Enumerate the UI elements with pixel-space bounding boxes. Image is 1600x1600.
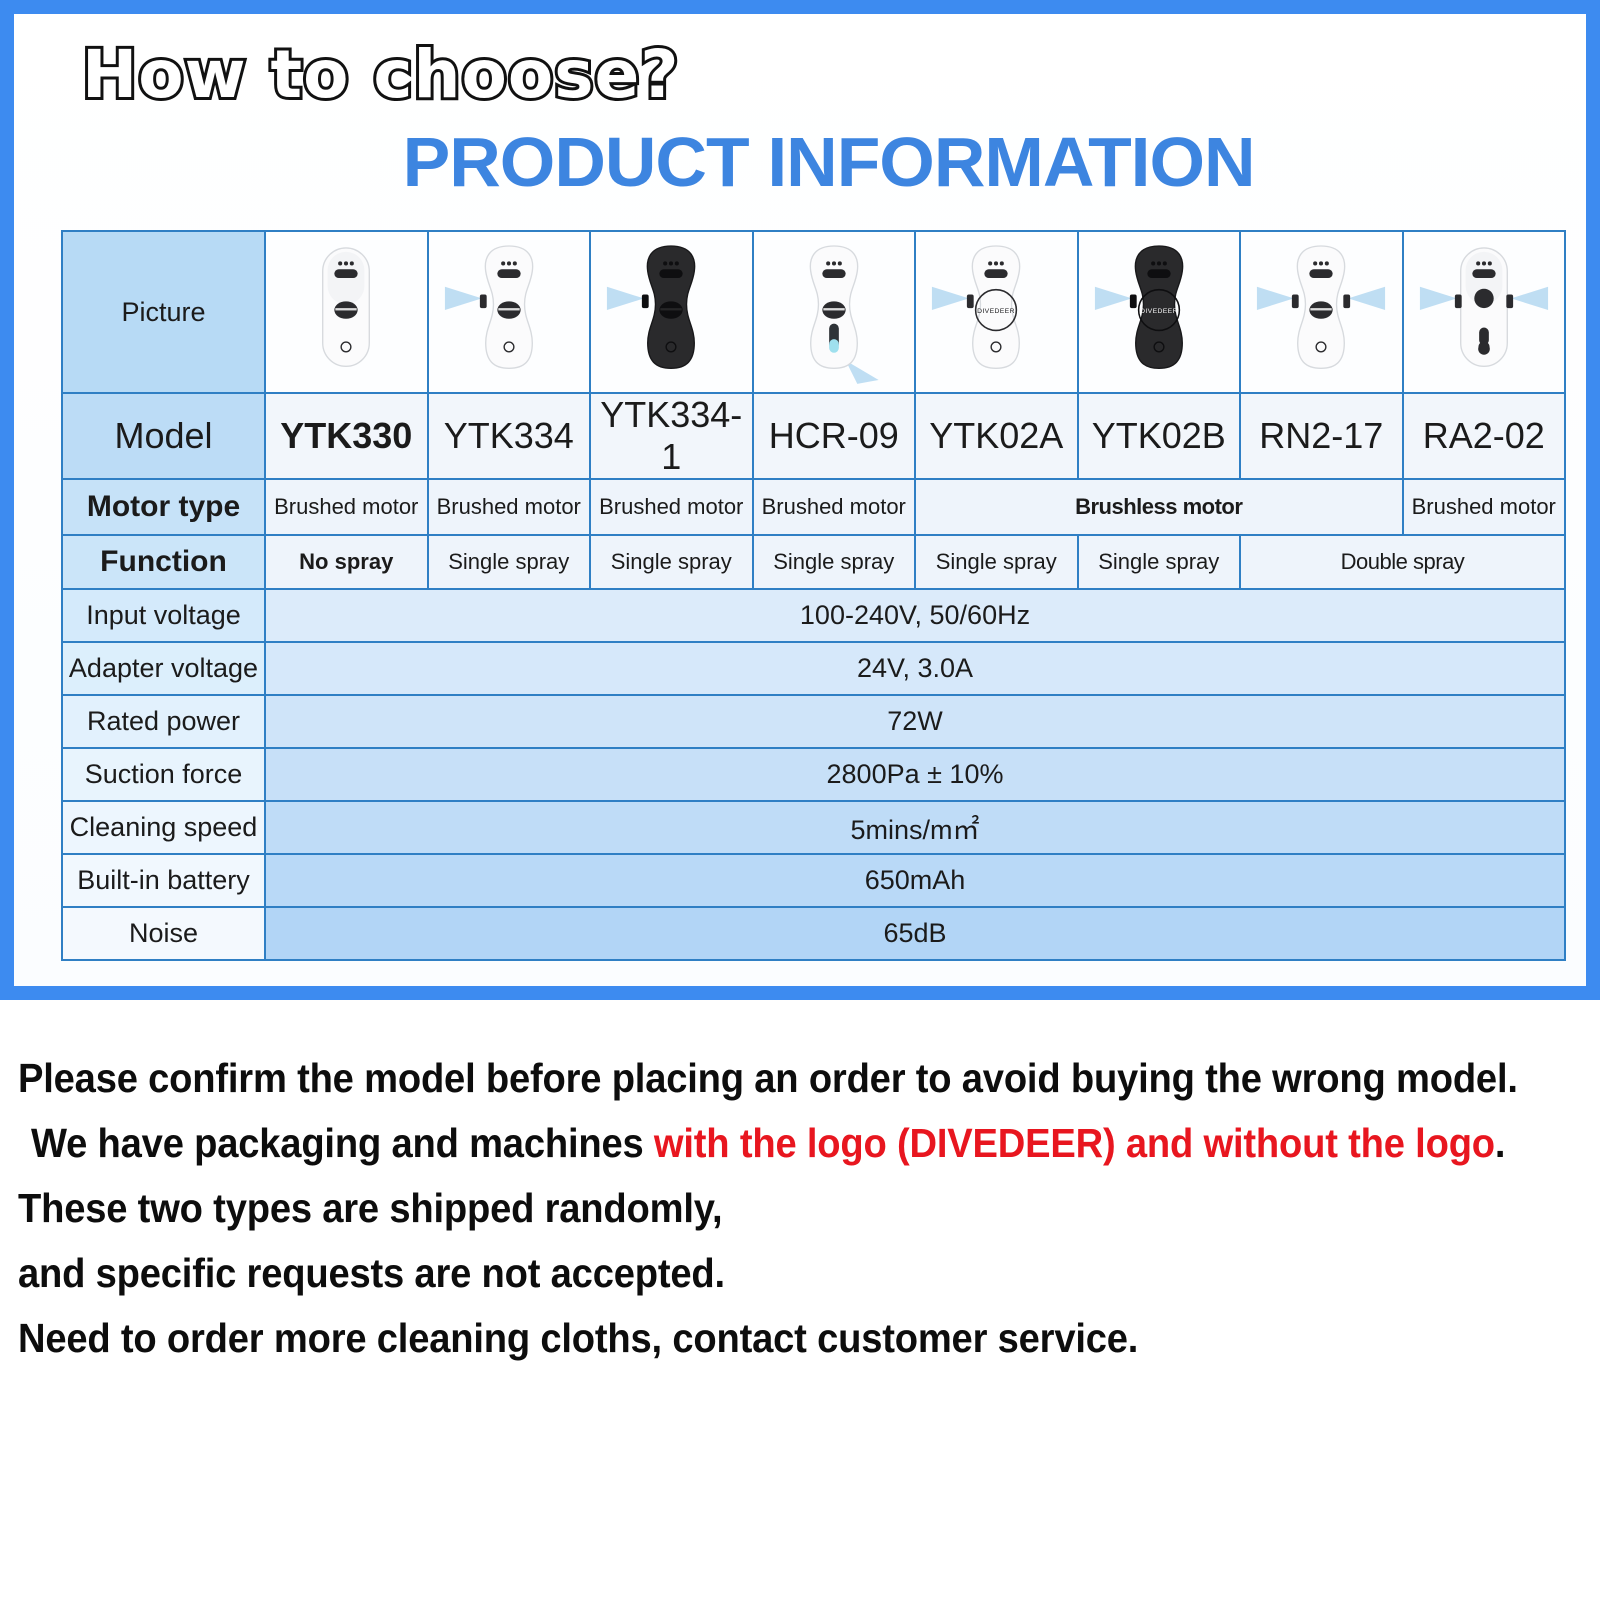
motor-type-cell-2: Brushed motor xyxy=(590,479,753,535)
function-cell-0: No spray xyxy=(265,535,428,589)
model-cell-ytk334: YTK334 xyxy=(428,393,591,479)
picture-cell-hcr-09 xyxy=(753,231,916,393)
table-row-picture: PictureDIVEDEERDIVEDEER xyxy=(62,231,1565,393)
model-cell-ytk02b: YTK02B xyxy=(1078,393,1241,479)
picture-box xyxy=(591,232,752,392)
motor-type-cell-5: Brushed motor xyxy=(1403,479,1566,535)
picture-box xyxy=(754,232,915,392)
spec-value-rated-power: 72W xyxy=(265,695,1565,748)
order-notes: Please confirm the model before placing … xyxy=(0,1018,1600,1371)
picture-cell-ytk02b: DIVEDEER xyxy=(1078,231,1241,393)
table-row-built-in-battery: Built-in battery650mAh xyxy=(62,854,1565,907)
row-label-cleaning-speed: Cleaning speed xyxy=(62,801,265,854)
picture-cell-ytk334-1 xyxy=(590,231,753,393)
row-label-adapter-voltage: Adapter voltage xyxy=(62,642,265,695)
robot-ytk02a-illustration: DIVEDEER xyxy=(930,237,1062,387)
table-row-motor-type: Motor typeBrushed motorBrushed motorBrus… xyxy=(62,479,1565,535)
function-cell-4: Single spray xyxy=(915,535,1078,589)
robot-ytk330-illustration xyxy=(280,237,412,387)
function-cell-2: Single spray xyxy=(590,535,753,589)
picture-box: DIVEDEER xyxy=(916,232,1077,392)
model-cell-ytk330: YTK330 xyxy=(265,393,428,479)
note-line-3: These two types are shipped randomly, xyxy=(18,1176,1473,1241)
how-to-choose-title: How to choose? xyxy=(82,36,680,113)
table-row-model: ModelYTK330YTK334YTK334-1HCR-09YTK02AYTK… xyxy=(62,393,1565,479)
picture-cell-ytk330 xyxy=(265,231,428,393)
robot-ra2-02-illustration xyxy=(1418,237,1550,387)
function-cell-1: Single spray xyxy=(428,535,591,589)
table-row-adapter-voltage: Adapter voltage24V, 3.0A xyxy=(62,642,1565,695)
table-row-cleaning-speed: Cleaning speed5mins/m㎡ xyxy=(62,801,1565,854)
row-label-function: Function xyxy=(62,535,265,589)
picture-cell-ytk02a: DIVEDEER xyxy=(915,231,1078,393)
robot-hcr-09-illustration xyxy=(768,237,900,387)
spec-table-body: PictureDIVEDEERDIVEDEERModelYTK330YTK334… xyxy=(62,231,1565,960)
model-cell-rn2-17: RN2-17 xyxy=(1240,393,1403,479)
svg-text:DIVEDEER: DIVEDEER xyxy=(1140,308,1178,315)
picture-box xyxy=(1241,232,1402,392)
spec-value-noise: 65dB xyxy=(265,907,1565,960)
spec-table-wrapper: PictureDIVEDEERDIVEDEERModelYTK330YTK334… xyxy=(61,230,1564,961)
row-label-input-voltage: Input voltage xyxy=(62,589,265,642)
robot-rn2-17-illustration xyxy=(1255,237,1387,387)
function-cell-3: Single spray xyxy=(753,535,916,589)
table-row-suction-force: Suction force2800Pa ± 10% xyxy=(62,748,1565,801)
row-label-model: Model xyxy=(62,393,265,479)
picture-cell-ytk334 xyxy=(428,231,591,393)
robot-ytk334-illustration xyxy=(443,237,575,387)
note-line-5: Need to order more cleaning cloths, cont… xyxy=(18,1306,1473,1371)
spec-value-cleaning-speed: 5mins/m㎡ xyxy=(265,801,1565,854)
picture-cell-ra2-02 xyxy=(1403,231,1566,393)
robot-ytk02b-illustration: DIVEDEER xyxy=(1093,237,1225,387)
table-row-function: FunctionNo spraySingle spraySingle spray… xyxy=(62,535,1565,589)
model-cell-ytk334-1: YTK334-1 xyxy=(590,393,753,479)
picture-cell-rn2-17 xyxy=(1240,231,1403,393)
row-label-built-in-battery: Built-in battery xyxy=(62,854,265,907)
spec-value-adapter-voltage: 24V, 3.0A xyxy=(265,642,1565,695)
svg-text:DIVEDEER: DIVEDEER xyxy=(977,308,1015,315)
table-row-noise: Noise65dB xyxy=(62,907,1565,960)
spec-value-suction-force: 2800Pa ± 10% xyxy=(265,748,1565,801)
spec-value-input-voltage: 100-240V, 50/60Hz xyxy=(265,589,1565,642)
row-label-picture: Picture xyxy=(62,231,265,393)
motor-type-cell-0: Brushed motor xyxy=(265,479,428,535)
robot-ytk334-1-illustration xyxy=(605,237,737,387)
motor-type-cell-3: Brushed motor xyxy=(753,479,916,535)
note-line-2-plain: We have packaging and machines xyxy=(31,1120,654,1166)
product-spec-table: PictureDIVEDEERDIVEDEERModelYTK330YTK334… xyxy=(61,230,1566,961)
product-info-panel: How to choose? PRODUCT INFORMATION Pictu… xyxy=(0,0,1600,1000)
motor-type-cell-1: Brushed motor xyxy=(428,479,591,535)
model-cell-hcr-09: HCR-09 xyxy=(753,393,916,479)
model-cell-ra2-02: RA2-02 xyxy=(1403,393,1566,479)
row-label-rated-power: Rated power xyxy=(62,695,265,748)
note-line-4: and specific requests are not accepted. xyxy=(18,1241,1473,1306)
product-information-title: PRODUCT INFORMATION xyxy=(339,122,1318,202)
picture-box: DIVEDEER xyxy=(1079,232,1240,392)
picture-box xyxy=(1404,232,1565,392)
row-label-suction-force: Suction force xyxy=(62,748,265,801)
note-line-2: We have packaging and machines with the … xyxy=(18,1111,1473,1176)
picture-box xyxy=(266,232,427,392)
model-cell-ytk02a: YTK02A xyxy=(915,393,1078,479)
function-cell-5: Single spray xyxy=(1078,535,1241,589)
note-line-1: Please confirm the model before placing … xyxy=(18,1046,1473,1111)
table-row-rated-power: Rated power72W xyxy=(62,695,1565,748)
picture-box xyxy=(429,232,590,392)
panel-inner: How to choose? PRODUCT INFORMATION Pictu… xyxy=(14,14,1586,986)
row-label-motor-type: Motor type xyxy=(62,479,265,535)
note-line-2-red: with the logo (DIVEDEER) and without the… xyxy=(654,1120,1495,1166)
motor-type-cell-4: Brushless motor xyxy=(915,479,1403,535)
table-row-input-voltage: Input voltage100-240V, 50/60Hz xyxy=(62,589,1565,642)
function-cell-6: Double spray xyxy=(1240,535,1565,589)
note-line-2-period: . xyxy=(1495,1120,1505,1166)
row-label-noise: Noise xyxy=(62,907,265,960)
spec-value-built-in-battery: 650mAh xyxy=(265,854,1565,907)
